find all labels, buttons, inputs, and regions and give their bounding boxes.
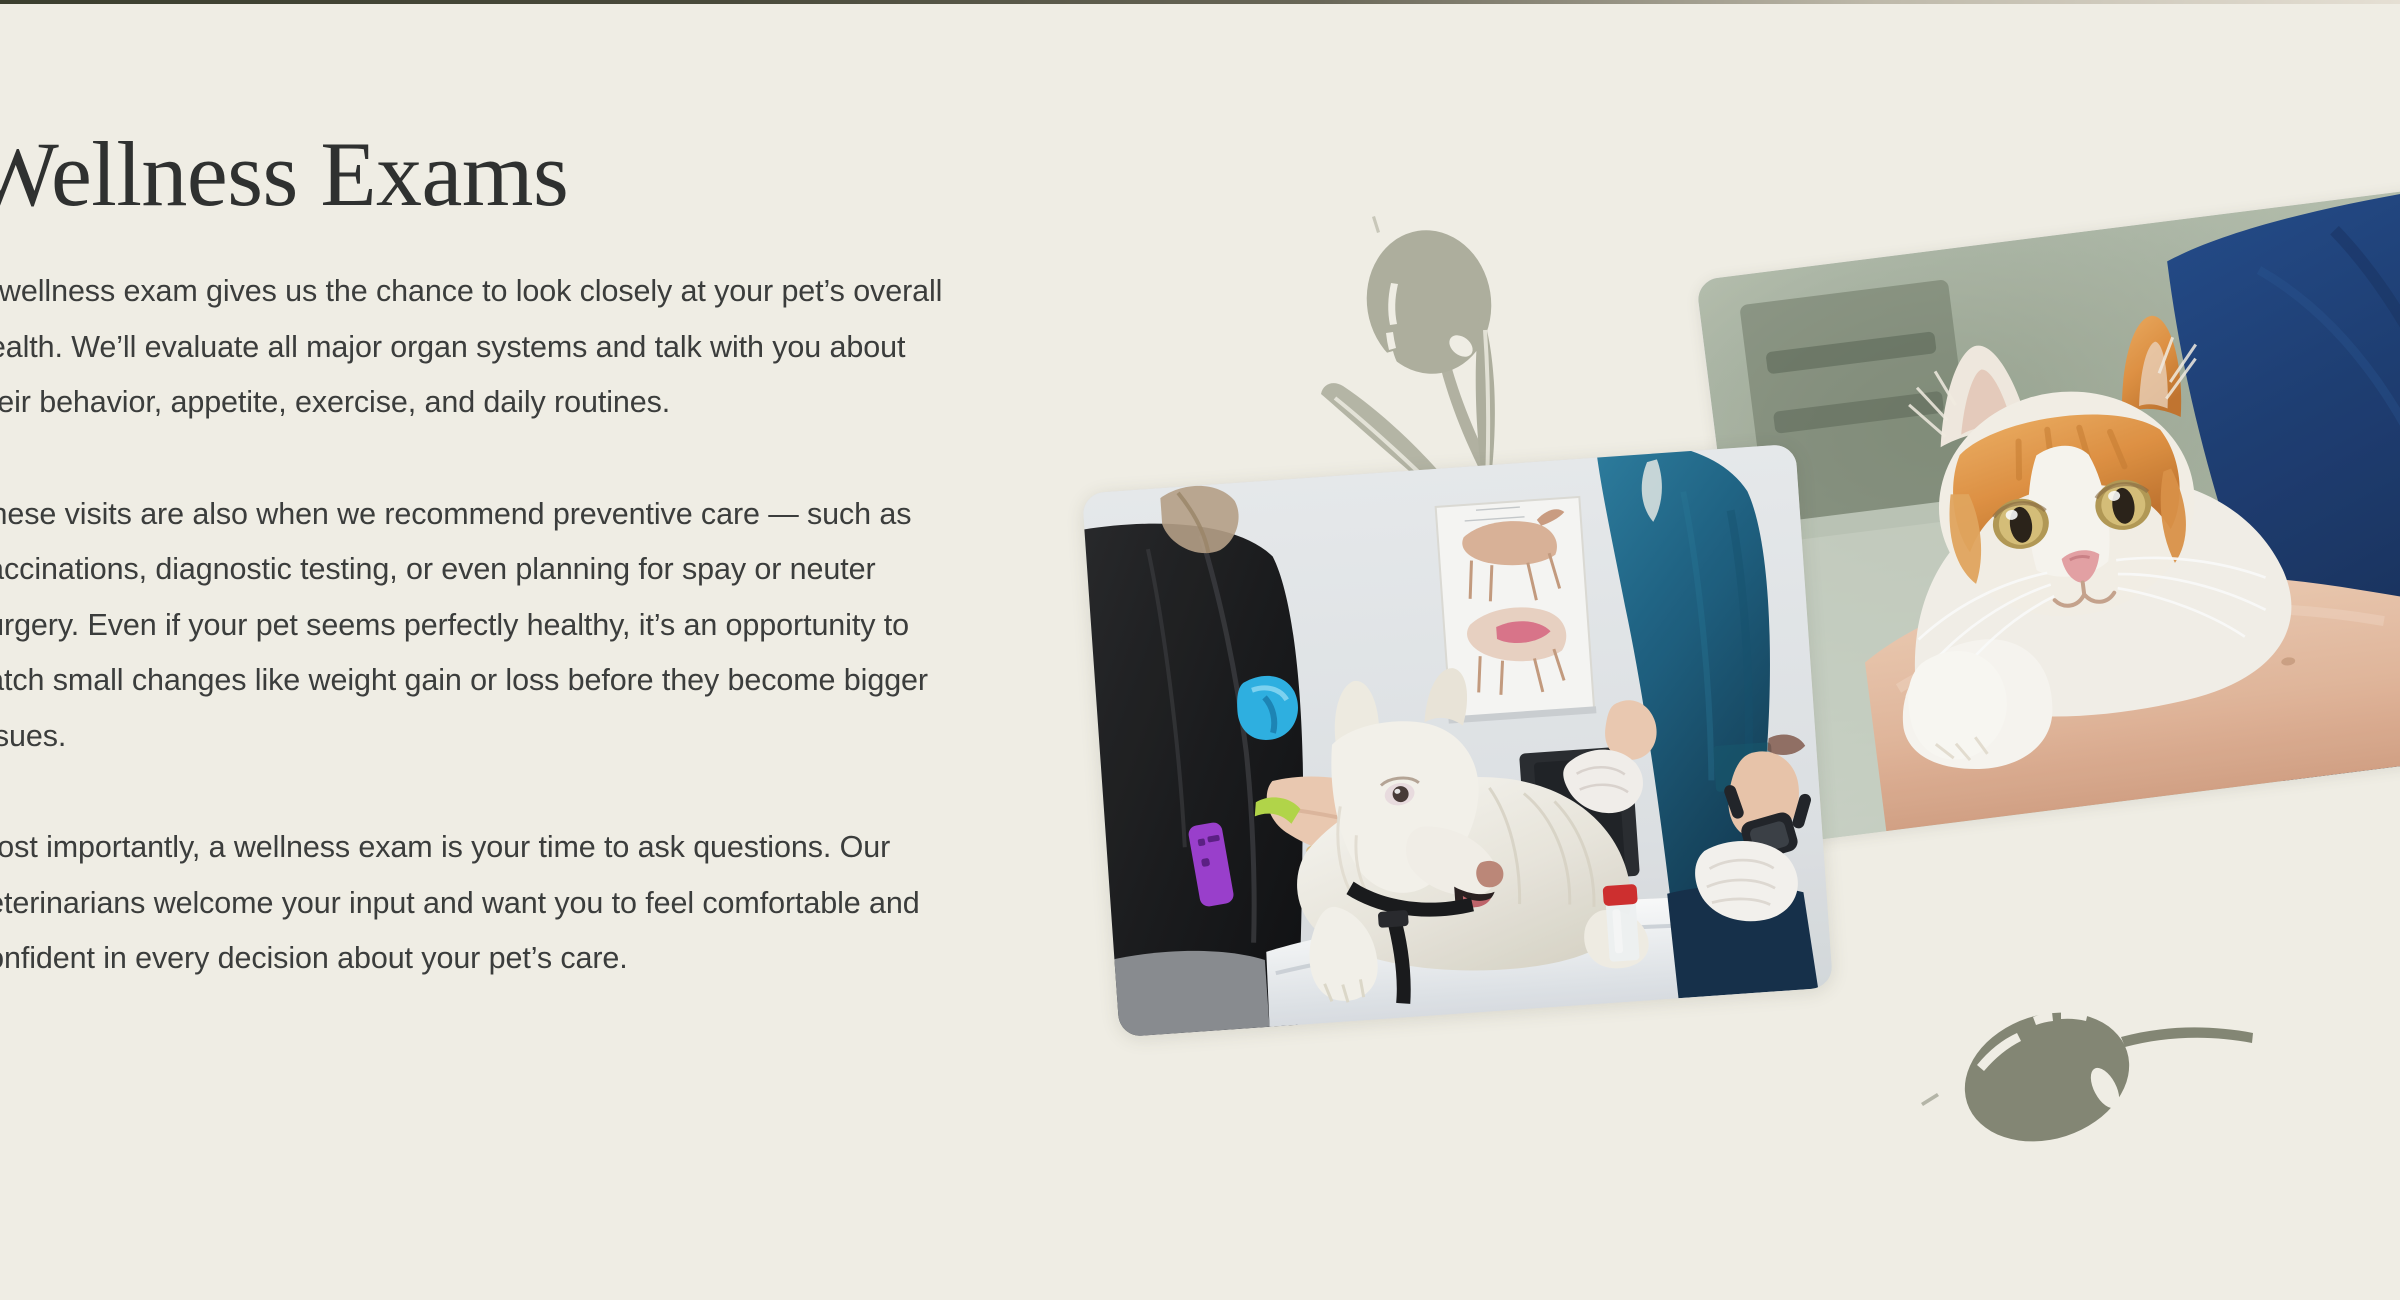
photo-dog-exam: [1082, 444, 1833, 1038]
paragraph-1: A wellness exam gives us the chance to l…: [0, 264, 957, 431]
body-copy: A wellness exam gives us the chance to l…: [0, 264, 982, 987]
dog-exam-photo-image: [1082, 444, 1833, 1038]
paragraph-3: Most importantly, a wellness exam is you…: [0, 820, 957, 987]
section-top-rule: [0, 0, 2400, 4]
page-title: Wellness Exams: [0, 128, 982, 220]
paragraph-2: These visits are also when we recommend …: [0, 487, 957, 765]
olive-sprig-icon: [1915, 985, 2275, 1185]
wellness-exams-text-column: Wellness Exams A wellness exam gives us …: [0, 128, 982, 987]
